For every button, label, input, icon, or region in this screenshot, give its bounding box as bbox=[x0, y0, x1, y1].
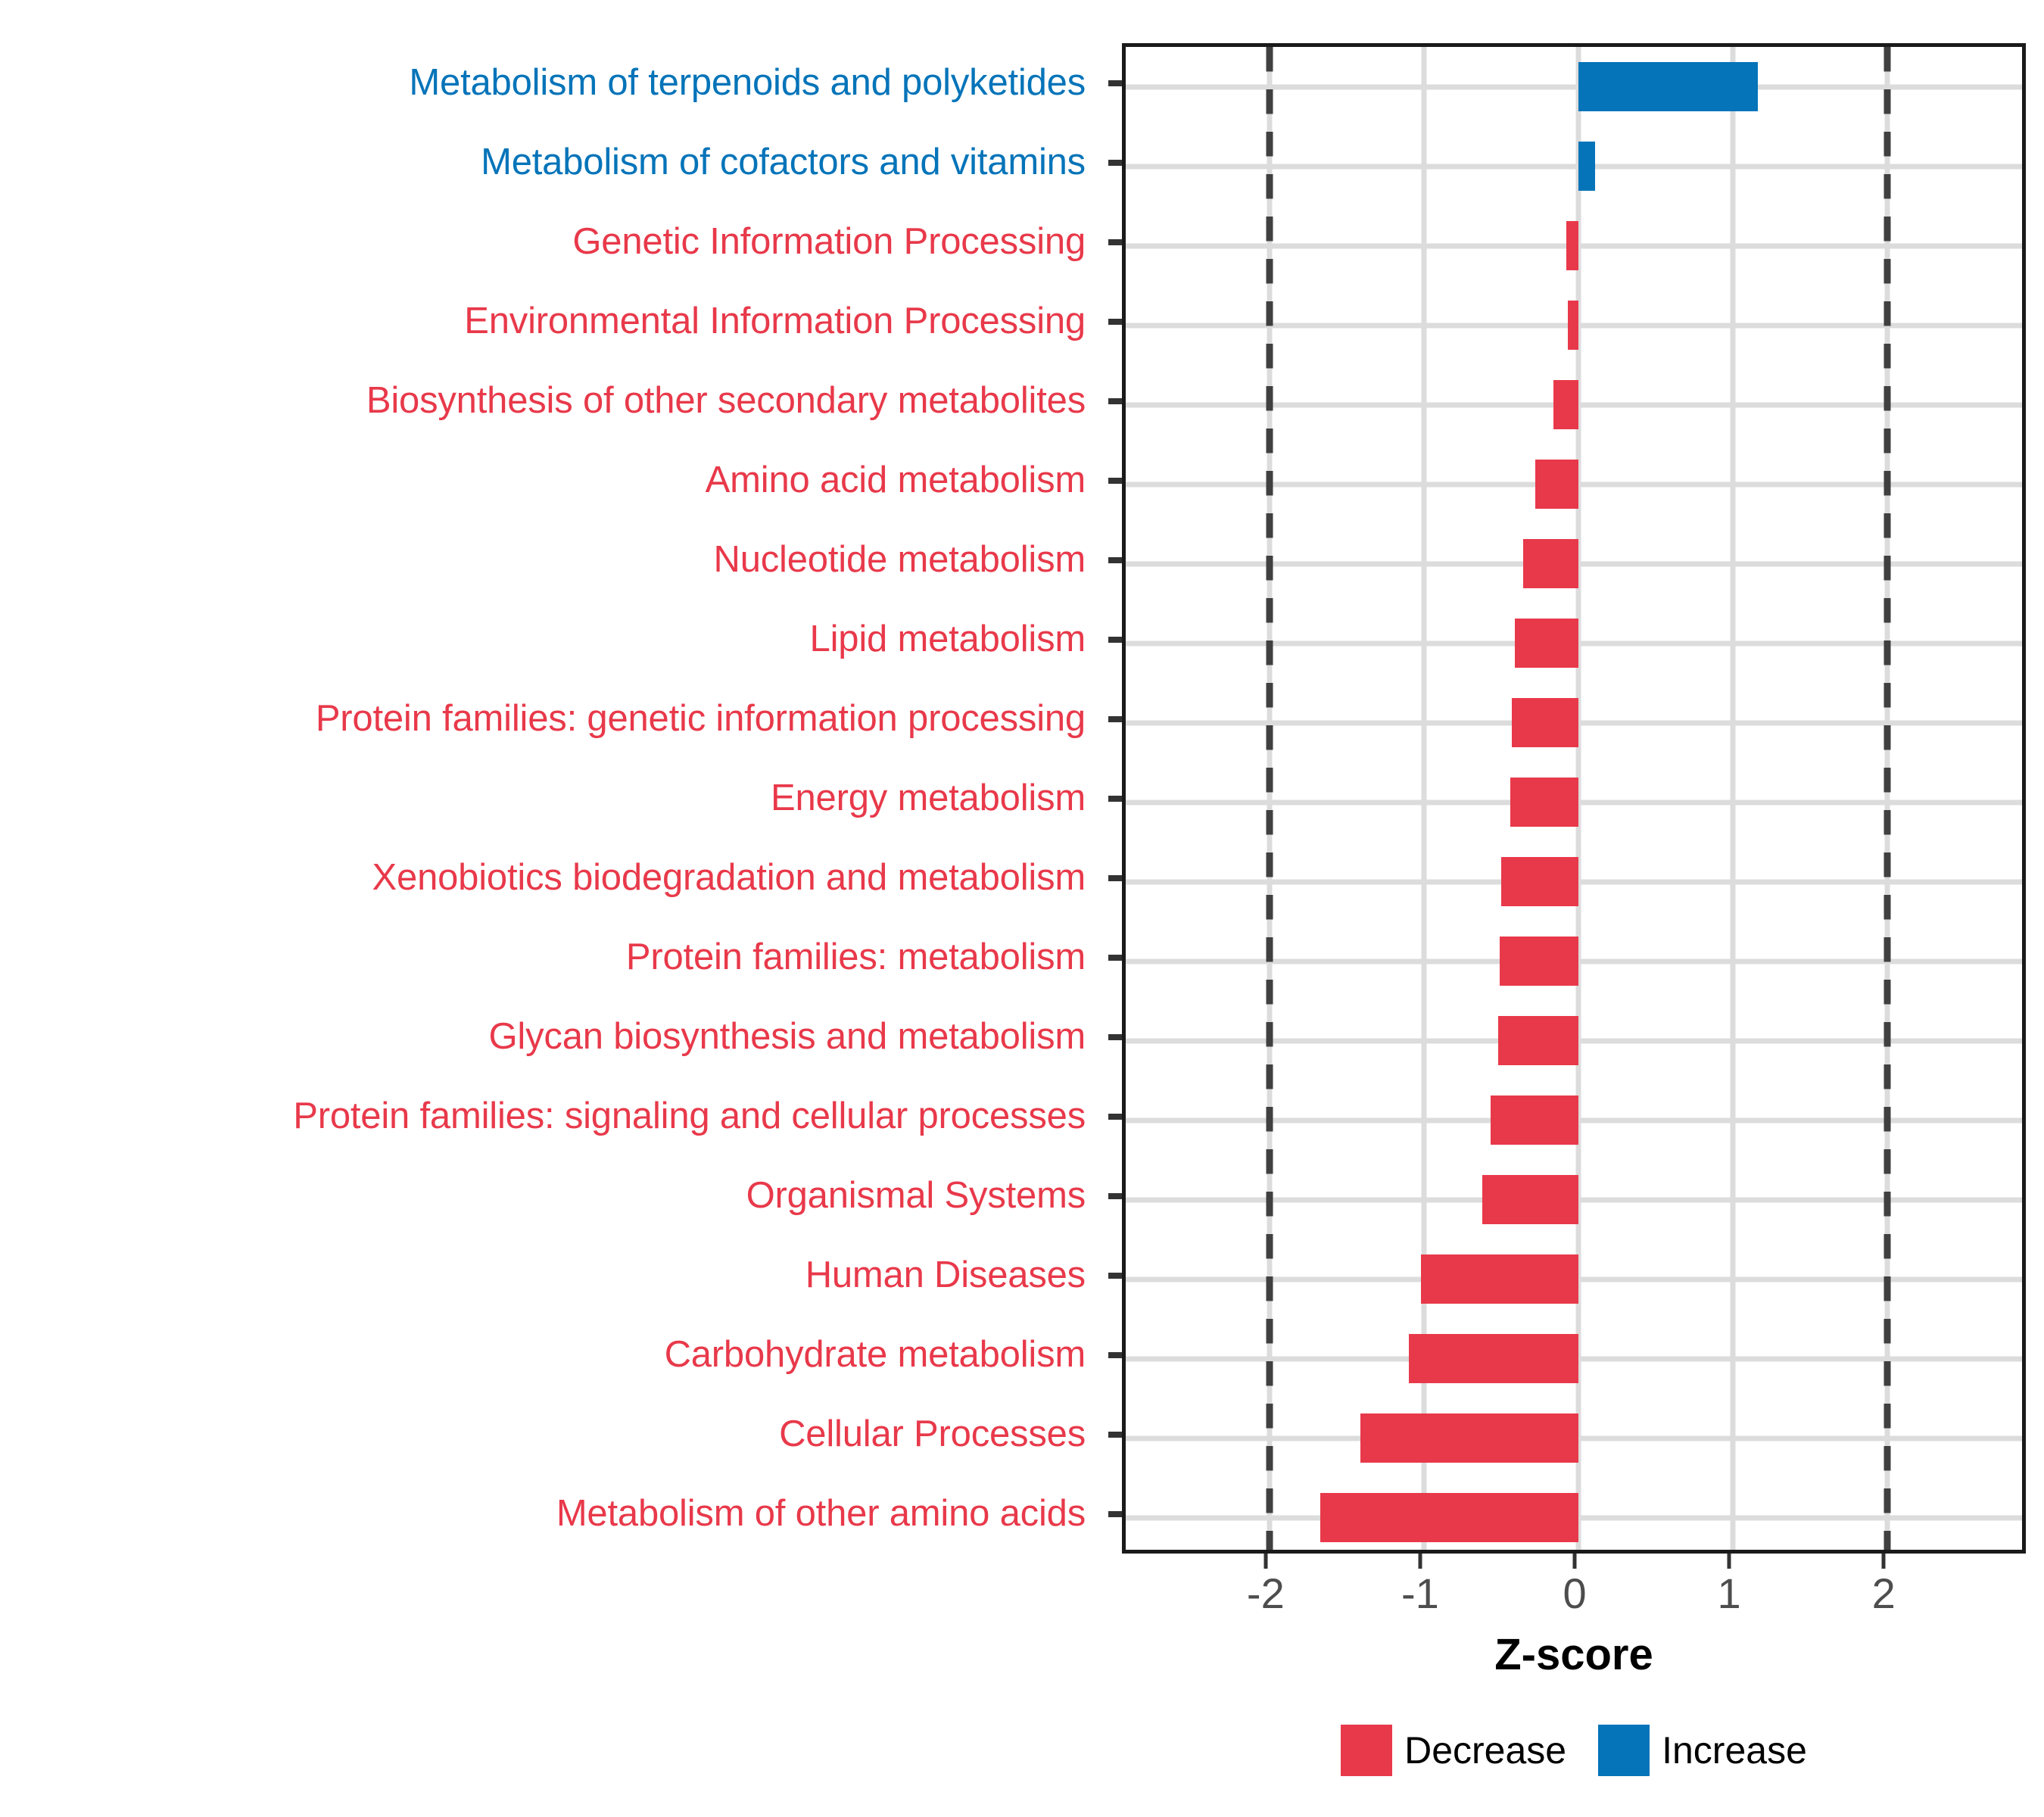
y-axis-tick-mark bbox=[1108, 1114, 1122, 1120]
y-axis-category-label: Genetic Information Processing bbox=[572, 223, 1086, 261]
bar-row bbox=[1126, 539, 2022, 588]
y-axis-tick-mark bbox=[1108, 1511, 1122, 1517]
x-axis-tick-mark bbox=[1882, 1554, 1886, 1569]
y-axis-tick-mark bbox=[1108, 319, 1122, 325]
bar-row bbox=[1126, 1175, 2022, 1224]
y-axis-label-row: Amino acid metabolism bbox=[0, 441, 1098, 520]
bar[interactable] bbox=[1515, 619, 1578, 668]
y-axis-category-label: Lipid metabolism bbox=[810, 620, 1086, 659]
bar[interactable] bbox=[1320, 1493, 1578, 1542]
bar-row bbox=[1126, 380, 2022, 429]
bar-row bbox=[1126, 619, 2022, 668]
y-axis-tick-row bbox=[1108, 520, 1122, 600]
y-axis-tick-mark bbox=[1108, 557, 1122, 563]
bar[interactable] bbox=[1578, 142, 1595, 191]
y-axis-tick-row bbox=[1108, 997, 1122, 1077]
legend-label: Increase bbox=[1662, 1728, 1807, 1772]
bar-row bbox=[1126, 1493, 2022, 1542]
y-axis-tick-mark bbox=[1108, 1273, 1122, 1279]
y-axis-tick-mark bbox=[1108, 875, 1122, 881]
y-axis-tick-row bbox=[1108, 1077, 1122, 1156]
y-axis-label-row: Metabolism of other amino acids bbox=[0, 1474, 1098, 1554]
bar-row bbox=[1126, 778, 2022, 827]
x-axis-tick-labels: -2-1012 bbox=[1122, 1569, 2026, 1622]
y-axis-category-label: Metabolism of terpenoids and polyketides bbox=[409, 64, 1086, 102]
y-axis-label-row: Energy metabolism bbox=[0, 759, 1098, 838]
y-axis-category-label: Metabolism of cofactors and vitamins bbox=[481, 143, 1086, 182]
bar[interactable] bbox=[1535, 460, 1578, 509]
x-axis-tick-mark bbox=[1573, 1554, 1577, 1569]
y-axis-label-row: Human Diseases bbox=[0, 1236, 1098, 1315]
y-axis-label-row: Carbohydrate metabolism bbox=[0, 1315, 1098, 1395]
y-axis-tick-row bbox=[1108, 838, 1122, 918]
bar-row bbox=[1126, 142, 2022, 191]
y-axis-tick-row bbox=[1108, 123, 1122, 202]
y-axis-label-row: Protein families: signaling and cellular… bbox=[0, 1077, 1098, 1156]
y-axis-tick-mark bbox=[1108, 637, 1122, 643]
y-axis-tick-row bbox=[1108, 600, 1122, 679]
y-axis-tick-row bbox=[1108, 361, 1122, 441]
y-axis-tick-mark bbox=[1108, 955, 1122, 961]
y-axis-tick-mark bbox=[1108, 1432, 1122, 1438]
y-axis-tick-mark bbox=[1108, 1352, 1122, 1358]
y-axis-tick-row bbox=[1108, 202, 1122, 282]
y-axis-tick-row bbox=[1108, 1156, 1122, 1236]
bar[interactable] bbox=[1498, 1016, 1578, 1065]
y-axis-tick-marks bbox=[1108, 43, 1122, 1554]
bar-row bbox=[1126, 221, 2022, 270]
y-axis-label-row: Nucleotide metabolism bbox=[0, 520, 1098, 600]
y-axis-tick-row bbox=[1108, 1474, 1122, 1554]
y-axis-category-label: Xenobiotics biodegradation and metabolis… bbox=[372, 859, 1086, 897]
y-axis-category-labels: Metabolism of terpenoids and polyketides… bbox=[0, 43, 1098, 1554]
x-axis-tick-mark bbox=[1263, 1554, 1267, 1569]
y-axis-tick-mark bbox=[1108, 160, 1122, 166]
y-axis-label-row: Metabolism of terpenoids and polyketides bbox=[0, 43, 1098, 123]
y-axis-category-label: Organismal Systems bbox=[746, 1177, 1086, 1215]
plot-panel bbox=[1122, 43, 2026, 1554]
y-axis-label-row: Xenobiotics biodegradation and metabolis… bbox=[0, 838, 1098, 918]
y-axis-tick-row bbox=[1108, 282, 1122, 361]
chart-legend: DecreaseIncrease bbox=[1122, 1725, 2026, 1776]
bar-series bbox=[1126, 47, 2022, 1550]
y-axis-category-label: Metabolism of other amino acids bbox=[556, 1494, 1086, 1533]
bar[interactable] bbox=[1523, 539, 1578, 588]
y-axis-label-row: Cellular Processes bbox=[0, 1395, 1098, 1474]
y-axis-category-label: Nucleotide metabolism bbox=[714, 541, 1086, 579]
bar-row bbox=[1126, 1016, 2022, 1065]
x-axis-tick-mark bbox=[1418, 1554, 1422, 1569]
legend-swatch-icon bbox=[1598, 1725, 1650, 1776]
y-axis-category-label: Protein families: genetic information pr… bbox=[316, 700, 1086, 738]
y-axis-category-label: Protein families: signaling and cellular… bbox=[293, 1097, 1086, 1136]
y-axis-category-label: Protein families: metabolism bbox=[626, 938, 1086, 977]
y-axis-label-row: Genetic Information Processing bbox=[0, 202, 1098, 282]
bar-row bbox=[1126, 301, 2022, 350]
y-axis-tick-mark bbox=[1108, 478, 1122, 484]
bar-row bbox=[1126, 1334, 2022, 1383]
y-axis-tick-row bbox=[1108, 43, 1122, 123]
bar-row bbox=[1126, 62, 2022, 111]
plot-panel-inner bbox=[1126, 47, 2022, 1550]
y-axis-category-label: Glycan biosynthesis and metabolism bbox=[489, 1018, 1086, 1056]
y-axis-label-row: Metabolism of cofactors and vitamins bbox=[0, 123, 1098, 202]
y-axis-category-label: Human Diseases bbox=[805, 1256, 1086, 1295]
y-axis-category-label: Amino acid metabolism bbox=[706, 461, 1086, 500]
y-axis-tick-mark bbox=[1108, 80, 1122, 86]
bar[interactable] bbox=[1500, 937, 1578, 986]
y-axis-category-label: Cellular Processes bbox=[779, 1415, 1086, 1454]
bar[interactable] bbox=[1360, 1413, 1578, 1463]
y-axis-tick-mark bbox=[1108, 1193, 1122, 1199]
legend-item-decrease[interactable]: Decrease bbox=[1341, 1725, 1566, 1776]
bar-row bbox=[1126, 937, 2022, 986]
x-axis-tick-label: -2 bbox=[1247, 1569, 1285, 1618]
x-axis-tick-label: 1 bbox=[1718, 1569, 1741, 1618]
y-axis-tick-mark bbox=[1108, 796, 1122, 802]
y-axis-tick-row bbox=[1108, 441, 1122, 520]
bar[interactable] bbox=[1578, 62, 1758, 111]
kegg-pathway-zscore-figure: Metabolism of terpenoids and polyketides… bbox=[0, 0, 2044, 1817]
y-axis-label-row: Organismal Systems bbox=[0, 1156, 1098, 1236]
y-axis-label-row: Protein families: genetic information pr… bbox=[0, 679, 1098, 759]
x-axis-tick-mark bbox=[1728, 1554, 1731, 1569]
bar[interactable] bbox=[1421, 1254, 1578, 1304]
legend-item-increase[interactable]: Increase bbox=[1598, 1725, 1807, 1776]
y-axis-tick-row bbox=[1108, 759, 1122, 838]
y-axis-category-label: Environmental Information Processing bbox=[464, 302, 1086, 341]
bar[interactable] bbox=[1568, 301, 1578, 350]
y-axis-tick-row bbox=[1108, 679, 1122, 759]
legend-label: Decrease bbox=[1404, 1728, 1566, 1772]
bar[interactable] bbox=[1482, 1175, 1578, 1224]
y-axis-category-label: Carbohydrate metabolism bbox=[665, 1335, 1086, 1374]
y-axis-category-label: Biosynthesis of other secondary metaboli… bbox=[366, 382, 1086, 420]
legend-swatch-icon bbox=[1341, 1725, 1392, 1776]
y-axis-tick-mark bbox=[1108, 1034, 1122, 1040]
y-axis-tick-row bbox=[1108, 1236, 1122, 1315]
y-axis-tick-row bbox=[1108, 1315, 1122, 1395]
bar[interactable] bbox=[1512, 698, 1578, 747]
y-axis-label-row: Glycan biosynthesis and metabolism bbox=[0, 997, 1098, 1077]
x-axis-tick-label: 0 bbox=[1563, 1569, 1586, 1618]
y-axis-tick-row bbox=[1108, 918, 1122, 997]
bar[interactable] bbox=[1409, 1334, 1579, 1383]
bar-row bbox=[1126, 460, 2022, 509]
bar-row bbox=[1126, 857, 2022, 906]
y-axis-label-row: Environmental Information Processing bbox=[0, 282, 1098, 361]
y-axis-tick-mark bbox=[1108, 716, 1122, 722]
bar[interactable] bbox=[1491, 1095, 1578, 1145]
x-axis-tick-marks bbox=[1122, 1554, 2026, 1569]
bar-row bbox=[1126, 1413, 2022, 1463]
bar-row bbox=[1126, 1095, 2022, 1145]
y-axis-tick-mark bbox=[1108, 398, 1122, 404]
x-axis-tick-label: -1 bbox=[1401, 1569, 1439, 1618]
bar[interactable] bbox=[1553, 380, 1578, 429]
bar-row bbox=[1126, 698, 2022, 747]
y-axis-label-row: Lipid metabolism bbox=[0, 600, 1098, 679]
y-axis-tick-mark bbox=[1108, 239, 1122, 245]
y-axis-label-row: Protein families: metabolism bbox=[0, 918, 1098, 997]
y-axis-label-row: Biosynthesis of other secondary metaboli… bbox=[0, 361, 1098, 441]
y-axis-tick-row bbox=[1108, 1395, 1122, 1474]
bar-row bbox=[1126, 1254, 2022, 1304]
bar[interactable] bbox=[1510, 778, 1578, 827]
x-axis-tick-label: 2 bbox=[1872, 1569, 1896, 1618]
bar[interactable] bbox=[1501, 857, 1578, 906]
x-axis-title: Z-score bbox=[1122, 1629, 2026, 1680]
bar[interactable] bbox=[1566, 221, 1578, 270]
y-axis-category-label: Energy metabolism bbox=[771, 779, 1086, 818]
